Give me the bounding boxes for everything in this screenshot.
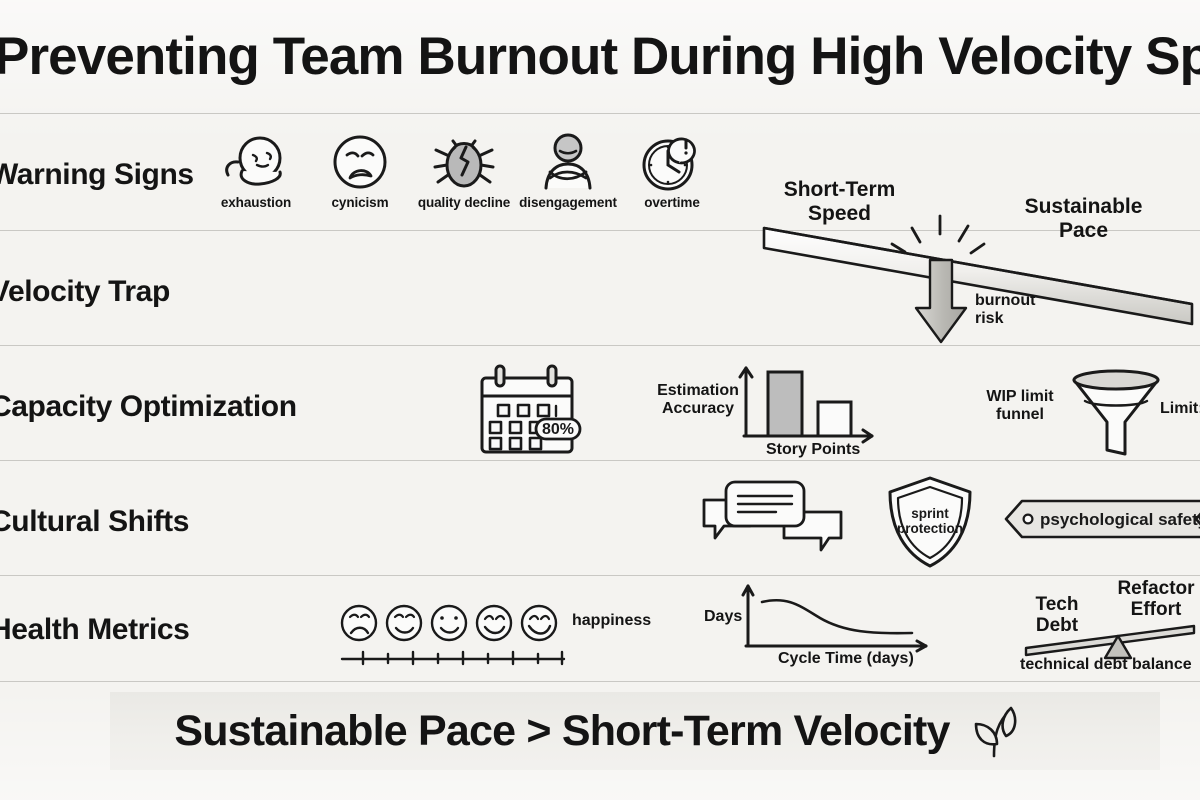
speech-bubbles-icon <box>700 478 845 562</box>
bar-chart-ylabel: Estimation Accuracy <box>648 382 748 418</box>
debt-balance-right-label: Refactor Effort <box>1108 578 1200 621</box>
calendar-capacity-badge: 80% <box>542 421 574 438</box>
cycle-time-curve <box>762 600 912 633</box>
sleeping-head-icon <box>214 131 298 193</box>
footer-text: Sustainable Pace > Short-Term Velocity <box>174 707 949 756</box>
psychological-safety-label: psychological safety <box>1040 510 1200 529</box>
title-bar: Preventing Team Burnout During High Velo… <box>0 0 1200 113</box>
happiness-scale-axis <box>342 652 564 664</box>
cracked-bug-icon <box>422 131 506 193</box>
happiness-face-5 <box>522 606 556 640</box>
icon-cell-cynicism[interactable]: cynicism <box>318 131 402 210</box>
icon-cell-quality-decline[interactable]: quality decline <box>422 131 506 210</box>
bar-chart-xlabel: Story Points <box>766 441 860 459</box>
funnel-limit-text: Limit: 3 Ta <box>1160 400 1200 418</box>
row-label-health-metrics: Health Metrics <box>0 613 189 647</box>
cycle-time-xlabel: Cycle Time (days) <box>778 650 914 668</box>
bar-estimation-low <box>818 402 851 436</box>
row-label-capacity-optimization: Capacity Optimization <box>0 390 297 424</box>
sprint-protection-shield-icon: sprint protection <box>884 474 976 570</box>
frowning-face-icon <box>318 131 402 193</box>
row-label-velocity-trap: Velocity Trap <box>0 275 170 309</box>
icon-caption: disengagement <box>519 195 617 210</box>
icon-caption: cynicism <box>332 195 389 210</box>
psychological-safety-banner[interactable]: psychological safety <box>1000 498 1200 540</box>
velocity-seesaw-figure <box>740 200 1200 345</box>
icon-caption: quality decline <box>418 195 510 210</box>
row-label-cultural-shifts: Cultural Shifts <box>0 505 189 539</box>
funnel-limit-clip: Limit: 3 Ta <box>1160 400 1200 426</box>
funnel-label: WIP limit funnel <box>975 388 1065 424</box>
infographic-sheet: Preventing Team Burnout During High Velo… <box>0 0 1200 800</box>
cycle-time-ylabel: Days <box>704 608 742 626</box>
happiness-face-2 <box>387 606 421 640</box>
shield-label-line2: protection <box>897 521 963 536</box>
icon-cell-disengagement[interactable]: disengagement <box>526 131 610 210</box>
happiness-scale-figure <box>338 602 576 668</box>
wip-limit-funnel-icon <box>1068 366 1164 460</box>
happiness-caption: happiness <box>572 612 651 630</box>
row-label-warning-signs: Warning Signs <box>0 158 194 192</box>
calendar-capacity-icon[interactable]: 80% <box>468 362 586 458</box>
debt-balance-caption: technical debt balance <box>1020 656 1192 674</box>
psychological-safety-banner-clip: psychological safety <box>1000 498 1200 540</box>
bar-estimation-high <box>768 372 802 436</box>
icon-cell-overtime[interactable]: overtime <box>630 131 714 210</box>
clock-alert-icon <box>630 131 714 193</box>
leaf-sprout-icon <box>964 700 1026 762</box>
warning-signs-icon-strip: exhaustion cynicism <box>214 131 714 210</box>
page-title: Preventing Team Burnout During High Velo… <box>0 30 1200 83</box>
footer: Sustainable Pace > Short-Term Velocity <box>0 692 1200 770</box>
estimation-accuracy-bar-chart <box>736 358 886 442</box>
icon-cell-exhaustion[interactable]: exhaustion <box>214 131 298 210</box>
row-divider <box>0 681 1200 682</box>
arms-crossed-person-icon <box>526 131 610 193</box>
icon-caption: exhaustion <box>221 195 291 210</box>
happiness-face-1 <box>342 606 376 640</box>
icon-caption: overtime <box>644 195 699 210</box>
shield-label-line1: sprint <box>911 506 949 521</box>
burnout-risk-label: burnout risk <box>975 292 1035 328</box>
happiness-face-3 <box>432 606 466 640</box>
cycle-time-line-chart <box>740 578 940 652</box>
spark-burst-icon <box>892 216 984 253</box>
happiness-face-4 <box>477 606 511 640</box>
